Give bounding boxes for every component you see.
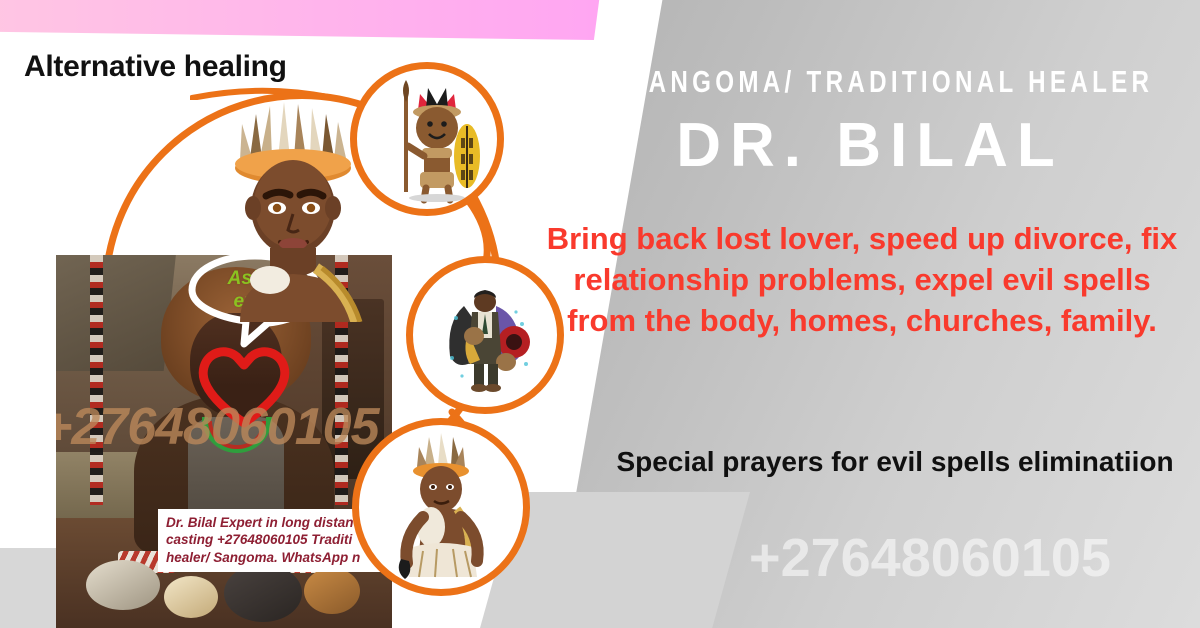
page-title: Alternative healing — [24, 50, 287, 84]
kicker-text: SANGOMA/ TRADITIONAL HEALER — [628, 64, 1112, 100]
poster-canvas: Alternative healing — [0, 0, 1200, 628]
crouching-dancer-illustration — [352, 418, 530, 596]
pink-accent-bar — [0, 0, 600, 40]
beaded-curtain-left — [90, 255, 103, 505]
zulu-warrior-illustration — [350, 62, 504, 216]
services-text: Bring back lost lover, speed up divorce,… — [542, 218, 1182, 342]
phone-watermark: +27648060105 — [660, 527, 1200, 589]
healer-name: DR. BILAL — [560, 110, 1180, 181]
gray-strip-left — [0, 548, 56, 628]
special-offer-text: Special prayers for evil spells eliminat… — [600, 443, 1190, 481]
cloaked-healer-illustration — [406, 256, 564, 414]
photo-phone-watermark: +27648060105 — [56, 397, 379, 457]
caption-line-3: healer/ Sangoma. WhatsApp n — [166, 549, 392, 566]
